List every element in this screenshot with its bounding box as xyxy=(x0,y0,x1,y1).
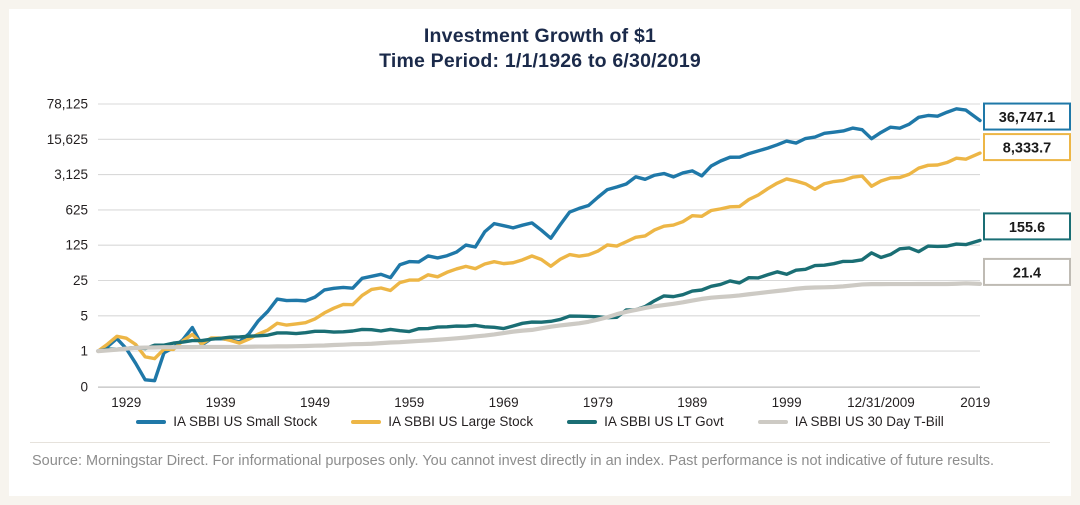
chart-card-frame: Investment Growth of $1 Time Period: 1/1… xyxy=(0,0,1080,505)
chart-card: Investment Growth of $1 Time Period: 1/1… xyxy=(18,18,1062,487)
legend-label: IA SBBI US Small Stock xyxy=(173,414,317,429)
title-line-1: Investment Growth of $1 xyxy=(18,24,1062,49)
legend-swatch-icon xyxy=(136,420,166,424)
x-axis-tick-label: 1949 xyxy=(300,395,330,410)
investment-growth-line-chart: 78,12515,6253,12562512525510192919391949… xyxy=(18,80,1080,410)
chart-legend: IA SBBI US Small StockIA SBBI US Large S… xyxy=(18,414,1062,429)
y-axis-tick-label: 0 xyxy=(80,380,88,395)
data-callout: 8,333.7 xyxy=(984,134,1070,160)
x-axis-tick-label: 1929 xyxy=(111,395,141,410)
callout-value: 155.6 xyxy=(1009,220,1045,236)
callout-value: 21.4 xyxy=(1013,265,1041,281)
chart-title: Investment Growth of $1 Time Period: 1/1… xyxy=(18,24,1062,74)
y-axis-tick-label: 5 xyxy=(80,308,88,323)
source-note: Source: Morningstar Direct. For informat… xyxy=(32,450,1040,473)
x-axis-tick-label: 1959 xyxy=(394,395,424,410)
y-axis-tick-label: 625 xyxy=(65,202,88,217)
legend-label: IA SBBI US Large Stock xyxy=(388,414,533,429)
legend-swatch-icon xyxy=(351,420,381,424)
y-axis-tick-label: 25 xyxy=(73,273,88,288)
legend-item[interactable]: IA SBBI US Large Stock xyxy=(351,414,533,429)
x-axis-tick-label: 1969 xyxy=(489,395,519,410)
y-axis-tick-label: 125 xyxy=(65,238,88,253)
legend-swatch-icon xyxy=(567,420,597,424)
y-axis-tick-label: 15,625 xyxy=(47,132,88,147)
legend-item[interactable]: IA SBBI US LT Govt xyxy=(567,414,724,429)
chart-plot-area: 78,12515,6253,12562512525510192919391949… xyxy=(18,80,1080,410)
legend-item[interactable]: IA SBBI US Small Stock xyxy=(136,414,317,429)
y-axis-tick-label: 1 xyxy=(80,344,88,359)
x-axis-tick-label: 1979 xyxy=(583,395,613,410)
y-axis-tick-label: 78,125 xyxy=(47,97,88,112)
x-axis-tick-label: 1999 xyxy=(772,395,802,410)
x-axis-tick-label: 12/31/2009 xyxy=(847,395,915,410)
x-axis-tick-label: 1939 xyxy=(206,395,236,410)
data-callout: 21.4 xyxy=(984,259,1070,285)
callout-value: 36,747.1 xyxy=(999,110,1055,126)
callout-value: 8,333.7 xyxy=(1003,141,1051,157)
x-axis-tick-label: 2019 xyxy=(960,395,990,410)
legend-label: IA SBBI US LT Govt xyxy=(604,414,724,429)
data-callout: 36,747.1 xyxy=(984,104,1070,130)
x-axis-tick-label: 1989 xyxy=(677,395,707,410)
footer-divider xyxy=(30,442,1050,443)
legend-label: IA SBBI US 30 Day T-Bill xyxy=(795,414,944,429)
data-callout: 155.6 xyxy=(984,213,1070,239)
y-axis-tick-label: 3,125 xyxy=(54,167,88,182)
title-line-2: Time Period: 1/1/1926 to 6/30/2019 xyxy=(18,49,1062,74)
legend-swatch-icon xyxy=(758,420,788,424)
legend-item[interactable]: IA SBBI US 30 Day T-Bill xyxy=(758,414,944,429)
